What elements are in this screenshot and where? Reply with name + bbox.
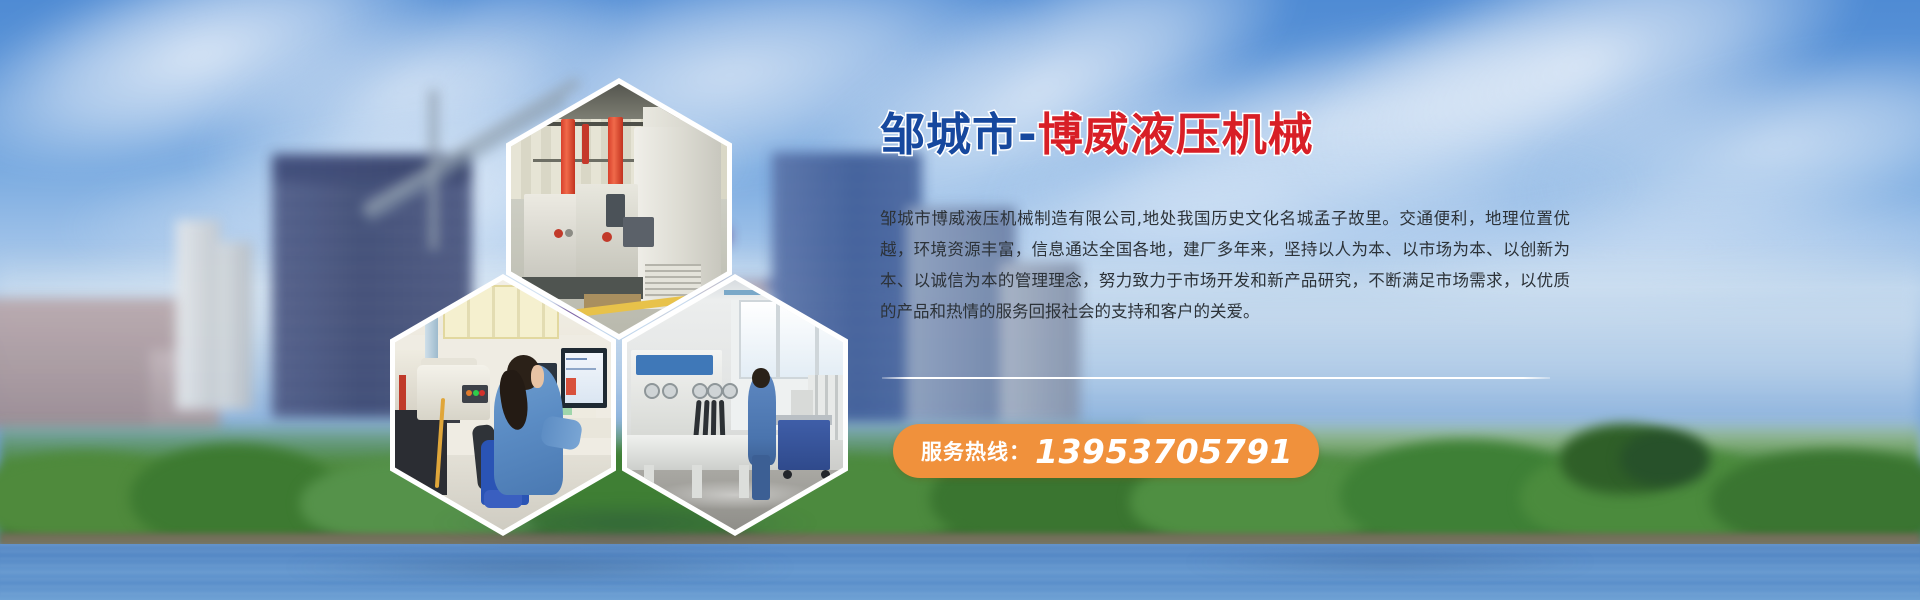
machine-dial (602, 232, 612, 242)
title-city-prefix: 邹城市- (880, 108, 1038, 161)
workshop-photo (511, 84, 727, 334)
floor-reflection (649, 480, 822, 510)
water-reflection (1180, 552, 1600, 572)
building (176, 220, 220, 410)
machine-dial (565, 229, 573, 237)
hexagon-photo-cluster (390, 78, 850, 538)
tool-cart (778, 420, 830, 470)
red-column (608, 117, 623, 192)
window (778, 300, 817, 379)
building (218, 242, 252, 410)
rig-gauge (722, 383, 738, 399)
hero-banner: 邹城市-博威液压机械 邹城市博威液压机械制造有限公司,地处我国历史文化名城孟子故… (0, 0, 1920, 600)
worker-leg (752, 455, 769, 500)
hotline-button[interactable]: 服务热线： 13953705791 (893, 424, 1319, 478)
control-panel (623, 217, 653, 247)
hex-photo-top-image (511, 84, 727, 334)
workshop-roof (511, 84, 727, 119)
water-reflection (280, 556, 800, 578)
banner-content: 邹城市-博威液压机械 邹城市博威液压机械制造有限公司,地处我国历史文化名城孟子故… (880, 112, 1580, 327)
screen-highlight (566, 378, 577, 396)
red-column (561, 119, 575, 199)
screen-content-line (566, 358, 588, 360)
company-description: 邹城市博威液压机械制造有限公司,地处我国历史文化名城孟子故里。交通便利，地理位置… (880, 203, 1570, 327)
window (817, 300, 843, 379)
hydraulic-test-photo (627, 280, 843, 530)
inspection-lab-photo (395, 280, 611, 530)
bench-leg (692, 465, 702, 498)
title-company-name: 博威液压机械 (1038, 108, 1314, 161)
bench-leg (644, 465, 654, 498)
fire-extinguisher (399, 375, 405, 410)
hotline-number: 13953705791 (1035, 432, 1293, 471)
bench-leg (739, 465, 749, 498)
worker-body (748, 375, 776, 465)
hotline-label: 服务热线： (921, 436, 1031, 466)
cnc-machine (524, 194, 582, 279)
rig-gauge (692, 383, 708, 399)
page-title: 邹城市-博威液压机械 (880, 112, 1580, 157)
cart-wheel (821, 470, 830, 479)
worker-head (752, 368, 769, 388)
cart-wheel (783, 470, 792, 479)
status-led (684, 114, 692, 122)
screen-content-line (566, 368, 596, 370)
technician-face (531, 365, 544, 388)
workshop-beam (528, 122, 658, 126)
content-divider (882, 377, 1550, 379)
machine-vent (645, 264, 701, 297)
hex-photo-bottom-left-image (395, 280, 611, 530)
rig-gauge (707, 383, 723, 399)
control-button (473, 390, 479, 396)
rig-gauge (662, 383, 678, 399)
rig-label-strip (636, 355, 714, 375)
hex-photo-bottom-right-image (627, 280, 843, 530)
overhead-pipe (724, 290, 843, 295)
tree (1620, 430, 1710, 486)
rig-gauge (644, 383, 660, 399)
red-column (582, 124, 589, 164)
